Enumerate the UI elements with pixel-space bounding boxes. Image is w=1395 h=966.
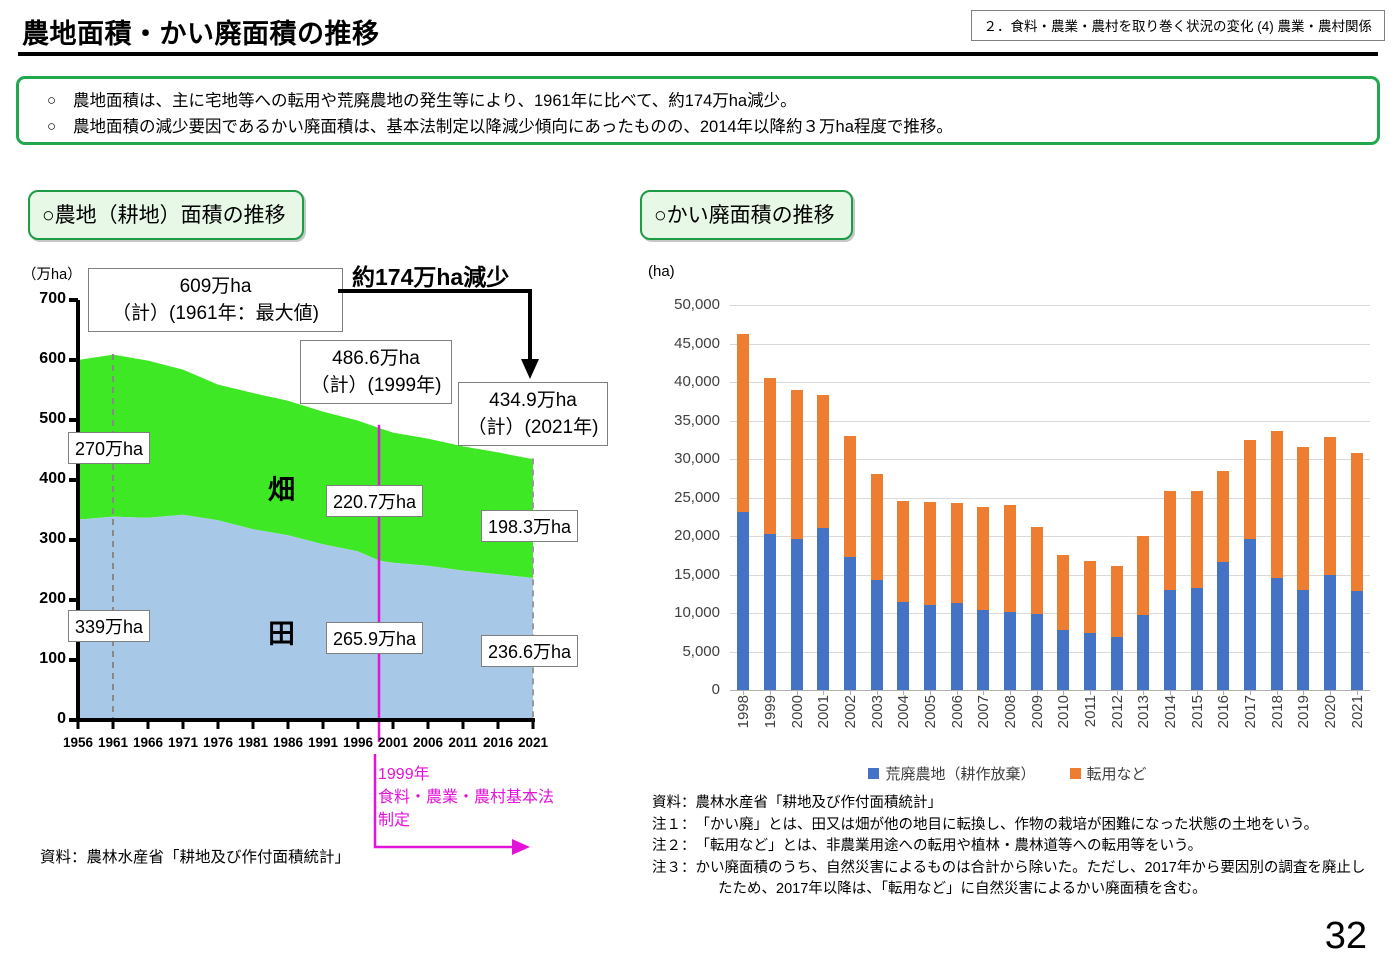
x-tick-label-right: 2018 [1269,695,1286,728]
x-tick-label-right: 2001 [815,695,832,728]
bar-column[interactable] [1164,491,1176,690]
note-row: たため、2017年以降は、「転用など」に自然災害によるかい廃面積を含む。 [652,879,1365,901]
bar-segment-conversion [897,501,909,602]
x-axis-line-right [730,690,1370,691]
summary-bullet-text: 農地面積は、主に宅地等への転用や荒廃農地の発生等により、1961年に比べて、約1… [73,88,797,114]
x-tick-label-left: 1996 [343,735,373,750]
bar-column[interactable] [1191,491,1203,690]
x-tick-label-left: 1991 [308,735,338,750]
law-enactment-note: 1999年 食料・農業・農村基本法 制定 [378,763,554,832]
section-header-farmland-area: ○農地（耕地）面積の推移 [28,190,304,240]
x-tick-label-right: 2020 [1322,695,1339,728]
tag-ta-1961: 339万ha [68,610,150,642]
page-number: 32 [1325,915,1367,958]
bar-segment-abandoned [1084,633,1096,690]
law-note-line1: 1999年 [378,763,554,786]
bar-column[interactable] [924,502,936,690]
bar-segment-abandoned [764,534,776,690]
legend-label: 転用など [1087,763,1147,784]
y-tick-right: 30,000 [648,450,720,467]
x-tick-label-left: 2006 [413,735,443,750]
legend-item[interactable]: 転用など [1070,763,1147,784]
y-tick-right: 0 [648,681,720,698]
bar-column[interactable] [977,507,989,690]
y-tick-right: 25,000 [648,489,720,506]
bar-segment-conversion [1191,491,1203,588]
chapter-tag: ２．食料・農業・農村を取り巻く状況の変化 (4) 農業・農村関係 [971,10,1386,41]
note-label: 資料： [652,793,696,815]
bar-column[interactable] [1271,431,1283,690]
y-tick-right: 15,000 [648,566,720,583]
x-tick-label-left: 1976 [203,735,233,750]
bar-column[interactable] [1057,555,1069,690]
gridline [730,382,1370,383]
callout-total-2021: 434.9万ha （計）(2021年) [458,382,608,446]
x-tick-label-right: 2016 [1215,695,1232,728]
title-divider [18,52,1378,56]
note-label: 注３： [652,858,696,880]
note-row: 注３：かい廃面積のうち、自然災害によるものは合計から除いた。ただし、2017年か… [652,858,1365,880]
chart-legend: 荒廃農地（耕作放棄）転用など [630,763,1385,784]
bar-segment-conversion [1057,555,1069,630]
x-tick-label-right: 1999 [762,695,779,728]
bar-segment-abandoned [1057,630,1069,690]
bar-segment-conversion [737,334,749,513]
bar-column[interactable] [1324,437,1336,690]
bar-segment-conversion [871,474,883,580]
x-tick-label-right: 1998 [735,695,752,728]
bar-segment-conversion [1271,431,1283,579]
bar-segment-conversion [1084,561,1096,633]
legend-swatch-icon [1070,768,1081,779]
note-text: たため、2017年以降は、「転用など」に自然災害によるかい廃面積を含む。 [718,879,1207,901]
bar-segment-abandoned [924,605,936,690]
note-label: 注２： [652,836,696,858]
note-text: 「転用など」とは、非農業用途への転用や植林・農林道等への転用等をいう。 [696,836,1203,858]
note-text: かい廃面積のうち、自然災害によるものは合計から除いた。ただし、2017年から要因… [696,858,1366,880]
y-tick-right: 5,000 [648,643,720,660]
bar-column[interactable] [791,390,803,690]
y-tick-right: 35,000 [648,412,720,429]
x-tick-label-left: 2021 [518,735,548,750]
label-ta-paddy: 田 [268,612,295,651]
bar-column[interactable] [1351,453,1363,690]
bar-segment-conversion [1244,440,1256,539]
notes-right: 資料：農林水産省「耕地及び作付面積統計」注１：「かい廃」とは、田又は畑が他の地目… [652,793,1365,901]
bar-segment-conversion [1324,437,1336,574]
callout-max-line2: （計）(1961年：最大値) [97,300,334,327]
x-tick-label-left: 1971 [168,735,198,750]
x-tick-label-right: 2008 [1002,695,1019,728]
x-tick-label-right: 2017 [1242,695,1259,728]
bar-column[interactable] [1084,561,1096,690]
bar-column[interactable] [817,395,829,690]
bar-segment-conversion [791,390,803,539]
bar-segment-abandoned [1191,588,1203,690]
note-row: 注２：「転用など」とは、非農業用途への転用や植林・農林道等への転用等をいう。 [652,836,1365,858]
legend-swatch-icon [868,768,879,779]
callout-max-line1: 609万ha [97,273,334,300]
bar-segment-abandoned [1324,575,1336,691]
bar-segment-abandoned [1137,615,1149,690]
bar-column[interactable] [844,436,856,690]
x-tick-label-right: 2019 [1295,695,1312,728]
bar-column[interactable] [1031,527,1043,690]
x-tick-label-right: 2021 [1349,695,1366,728]
tag-hatake-1961: 270万ha [68,432,150,464]
x-tick-label-left: 1966 [133,735,163,750]
bar-segment-abandoned [737,512,749,690]
bar-segment-abandoned [951,603,963,690]
bar-column[interactable] [897,501,909,690]
bar-segment-conversion [1137,536,1149,615]
callout-2021-line1: 434.9万ha [467,387,599,414]
bar-column[interactable] [1297,447,1309,690]
bar-plot [730,305,1370,690]
x-tick-label-right: 2015 [1189,695,1206,728]
bar-segment-conversion [951,503,963,603]
bar-segment-conversion [1297,447,1309,590]
bar-column[interactable] [951,503,963,690]
x-tick-label-right: 2013 [1135,695,1152,728]
summary-box: ○ 農地面積は、主に宅地等への転用や荒廃農地の発生等により、1961年に比べて、… [16,76,1380,145]
bar-segment-conversion [1351,453,1363,591]
x-tick-label-right: 2004 [895,695,912,728]
x-tick-label-left: 1961 [98,735,128,750]
x-tick-label-left: 2011 [448,735,477,750]
bar-column[interactable] [764,378,776,690]
y-tick-right: 45,000 [648,335,720,352]
gridline [730,344,1370,345]
note-row: 資料：農林水産省「耕地及び作付面積統計」 [652,793,1365,815]
bar-column[interactable] [871,474,883,690]
x-tick-label-right: 2000 [789,695,806,728]
bar-segment-abandoned [817,528,829,690]
bar-column[interactable] [737,334,749,691]
bar-segment-conversion [1164,491,1176,590]
decrease-arrow-icon [330,285,560,385]
x-tick-label-right: 2009 [1029,695,1046,728]
callout-max-1961: 609万ha （計）(1961年：最大値) [88,268,343,332]
bar-segment-abandoned [844,557,856,690]
bullet-circle-icon: ○ [47,114,73,140]
bar-segment-conversion [764,378,776,534]
x-tick-label-left: 1986 [273,735,303,750]
bar-segment-abandoned [1244,539,1256,690]
x-axis-labels-right: 1998199920002001200220032004200520062007… [730,695,1370,755]
x-tick-label-right: 2014 [1162,695,1179,728]
bar-segment-conversion [1004,505,1016,612]
bar-segment-abandoned [871,580,883,690]
y-tick-right: 40,000 [648,373,720,390]
bar-segment-abandoned [1297,590,1309,690]
bar-segment-abandoned [977,610,989,690]
bar-column[interactable] [1111,566,1123,690]
callout-2021-line2: （計）(2021年) [467,414,599,441]
note-row: 注１：「かい廃」とは、田又は畑が他の地目に転換し、作物の栽培が困難になった状態の… [652,815,1365,837]
bar-segment-abandoned [1111,637,1123,690]
summary-bullet: ○ 農地面積は、主に宅地等への転用や荒廃農地の発生等により、1961年に比べて、… [19,88,1377,114]
x-tick-label-left: 2001 [378,735,408,750]
x-tick-label-right: 2005 [922,695,939,728]
label-hatake-upland: 畑 [268,468,295,507]
legend-label: 荒廃農地（耕作放棄） [885,763,1035,784]
bar-segment-abandoned [1004,612,1016,690]
bullet-circle-icon: ○ [47,88,73,114]
law-note-line3: 制定 [378,809,554,832]
x-tick-label-left: 1981 [238,735,268,750]
bar-segment-conversion [844,436,856,557]
bar-segment-abandoned [1351,591,1363,690]
law-note-line2: 食料・農業・農村基本法 [378,786,554,809]
x-tick-label-right: 2002 [842,695,859,728]
x-tick-label-right: 2010 [1055,695,1072,728]
x-tick-label-right: 2006 [949,695,966,728]
note-label: 注１： [652,815,696,837]
x-tick-label-left: 1956 [63,735,93,750]
bar-segment-abandoned [1271,578,1283,690]
y-axis-unit-right: (ha) [648,263,675,280]
tag-hatake-1999: 220.7万ha [326,485,423,517]
bar-column[interactable] [1244,440,1256,690]
tag-ta-2021: 236.6万ha [481,635,578,667]
y-tick-right: 20,000 [648,527,720,544]
note-text: 農林水産省「耕地及び作付面積統計」 [696,793,943,815]
bar-column[interactable] [1217,471,1229,690]
bar-segment-conversion [977,507,989,610]
bar-segment-abandoned [1164,590,1176,690]
section-header-abandoned-area: ○かい廃面積の推移 [640,190,853,240]
summary-bullet-text: 農地面積の減少要因であるかい廃面積は、基本法制定以降減少傾向にあったものの、20… [73,114,953,140]
slide-root: 農地面積・かい廃面積の推移 ２．食料・農業・農村を取り巻く状況の変化 (4) 農… [0,0,1395,966]
bar-column[interactable] [1004,505,1016,690]
x-tick-label-right: 2007 [975,695,992,728]
x-tick-label-right: 2012 [1109,695,1126,728]
page-title: 農地面積・かい廃面積の推移 [22,12,380,51]
y-tick-right: 10,000 [648,604,720,621]
tag-ta-1999: 265.9万ha [326,622,423,654]
gridline [730,305,1370,306]
legend-item[interactable]: 荒廃農地（耕作放棄） [868,763,1035,784]
bar-segment-conversion [1031,527,1043,614]
x-tick-label-right: 2003 [869,695,886,728]
bar-segment-conversion [924,502,936,604]
x-tick-label-left: 2016 [483,735,513,750]
y-tick-right: 50,000 [648,296,720,313]
tag-hatake-2021: 198.3万ha [481,510,578,542]
bar-segment-abandoned [791,539,803,690]
abandoned-area-chart: (ha) 50,00045,00040,00035,00030,00025,00… [630,255,1385,775]
bar-segment-conversion [1111,566,1123,637]
bar-segment-conversion [1217,471,1229,563]
bar-segment-abandoned [1031,614,1043,690]
bar-column[interactable] [1137,536,1149,690]
x-tick-label-right: 2011 [1082,695,1099,727]
bar-segment-abandoned [1217,562,1229,690]
bar-segment-conversion [817,395,829,527]
source-note-left: 資料：農林水産省「耕地及び作付面積統計」 [40,845,350,867]
summary-bullet: ○ 農地面積の減少要因であるかい廃面積は、基本法制定以降減少傾向にあったものの、… [19,114,1377,140]
bar-segment-abandoned [897,602,909,690]
note-text: 「かい廃」とは、田又は畑が他の地目に転換し、作物の栽培が困難になった状態の土地を… [696,815,1319,837]
